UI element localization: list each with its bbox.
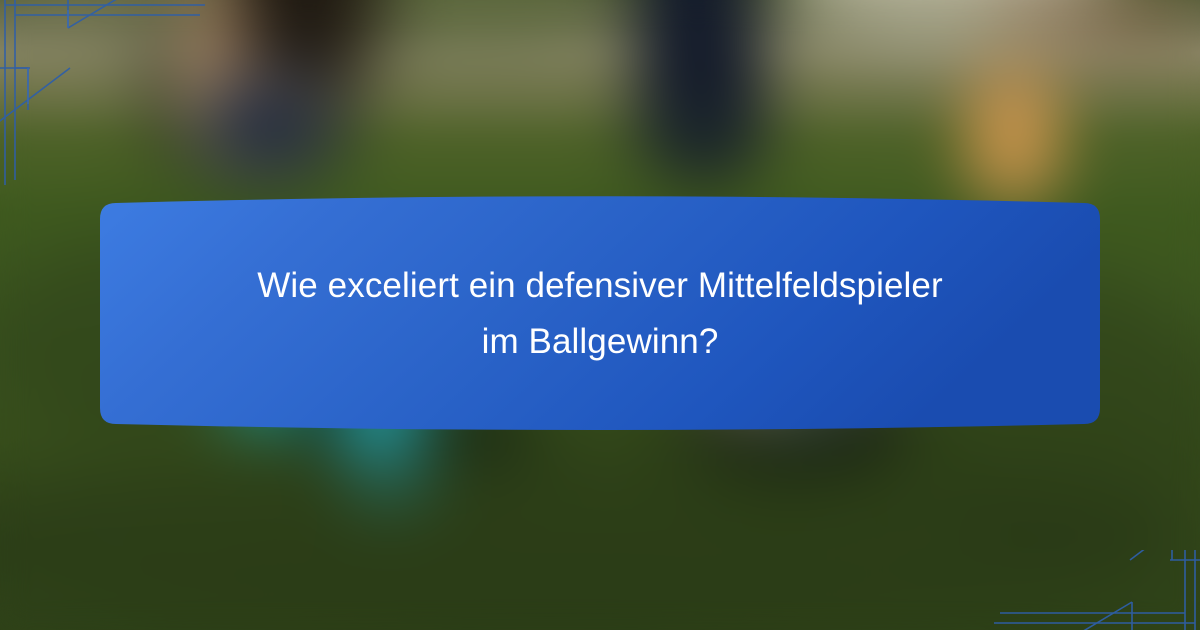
headline-text-block: Wie exceliert ein defensiver Mittelfelds… xyxy=(100,196,1100,432)
headline-line-2: im Ballgewinn? xyxy=(482,314,719,370)
headline-line-1: Wie exceliert ein defensiver Mittelfelds… xyxy=(257,258,942,314)
headline-banner: Wie exceliert ein defensiver Mittelfelds… xyxy=(100,196,1100,432)
